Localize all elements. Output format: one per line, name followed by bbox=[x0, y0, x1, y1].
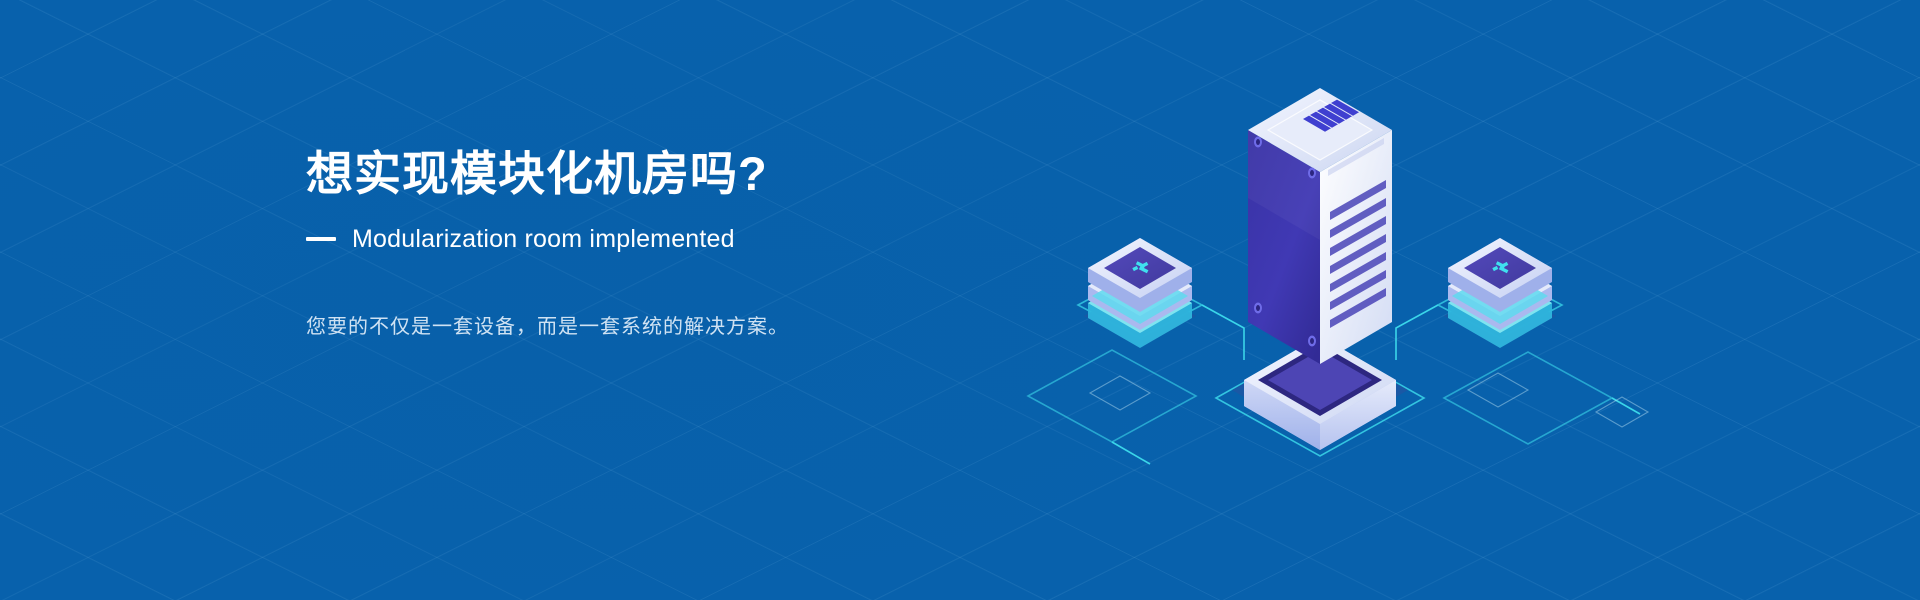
hero-subtitle-row: Modularization room implemented bbox=[306, 225, 1026, 254]
chip-module-left bbox=[1088, 238, 1192, 348]
hero-body-text: 您要的不仅是一套设备，而是一套系统的解决方案。 bbox=[306, 310, 1026, 339]
hero-copy-block: 想实现模块化机房吗? Modularization room implement… bbox=[306, 148, 1026, 339]
hero-subtitle: Modularization room implemented bbox=[352, 225, 735, 254]
hero-banner: 想实现模块化机房吗? Modularization room implement… bbox=[0, 0, 1920, 600]
hero-headline: 想实现模块化机房吗? bbox=[306, 148, 1026, 201]
chip-module-right bbox=[1448, 238, 1552, 348]
server-tower bbox=[1248, 88, 1392, 364]
dash-divider-icon bbox=[306, 237, 336, 241]
isometric-server-illustration bbox=[1000, 60, 1640, 460]
